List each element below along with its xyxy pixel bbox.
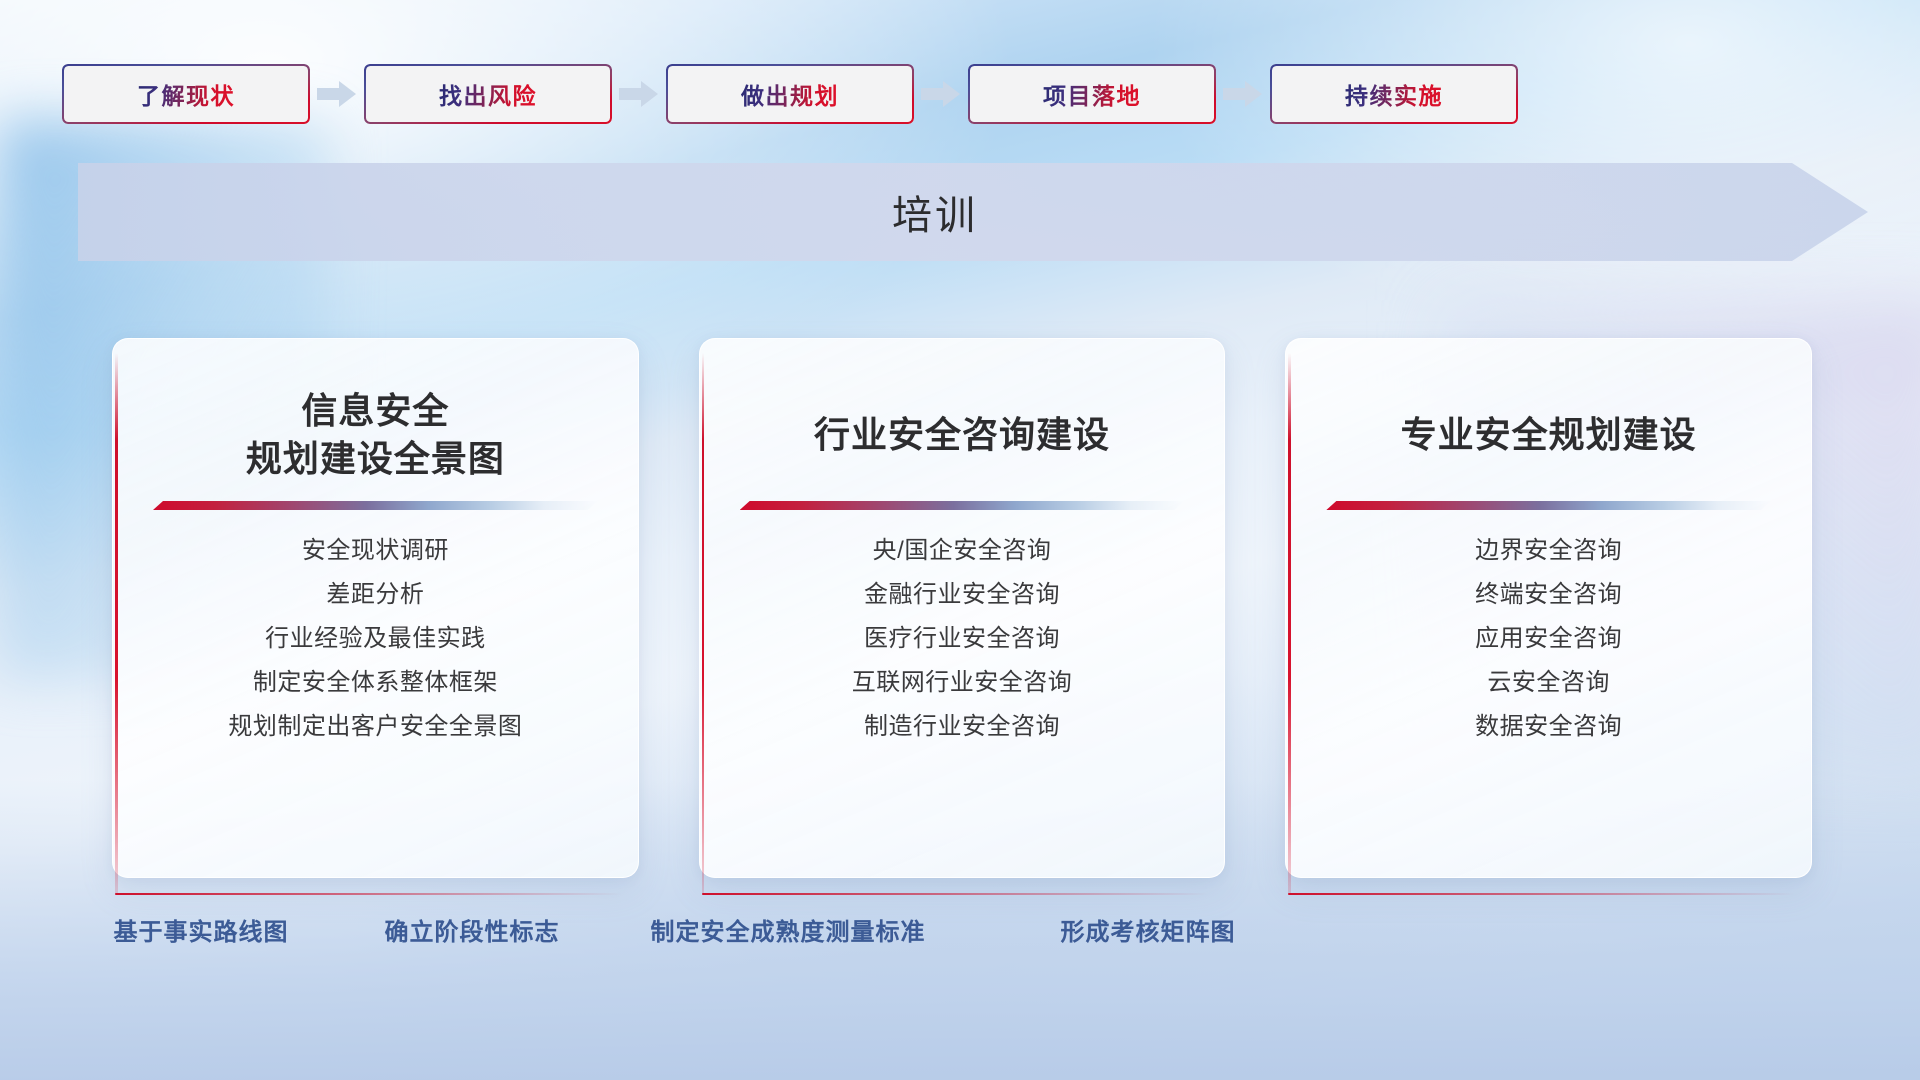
card-title: 专业安全规划建设	[1312, 387, 1785, 483]
training-banner: 培训	[78, 163, 1868, 261]
process-step-flow: 了解现状找出风险做出规划项目落地持续实施	[62, 64, 1862, 124]
card-title-line: 信息安全	[246, 387, 505, 435]
step-box-4[interactable]: 项目落地	[968, 64, 1216, 124]
card-divider	[1326, 501, 1771, 513]
footer-label-3: 制定安全成熟度测量标准	[651, 912, 926, 947]
list-item[interactable]: 制定安全体系整体框架	[139, 661, 612, 705]
info-card-2[interactable]: 行业安全咨询建设央/国企安全咨询金融行业安全咨询医疗行业安全咨询互联网行业安全咨…	[699, 338, 1226, 878]
footer-label-group: 基于事实路线图确立阶段性标志制定安全成熟度测量标准形成考核矩阵图	[0, 912, 1920, 956]
footer-label-1: 基于事实路线图	[114, 912, 289, 947]
list-item[interactable]: 规划制定出客户安全全景图	[139, 705, 612, 749]
card-divider	[740, 501, 1185, 513]
arrow-right-icon	[1216, 77, 1270, 111]
card-accent-bar	[1288, 353, 1291, 895]
list-item[interactable]: 差距分析	[139, 573, 612, 617]
list-item[interactable]: 行业经验及最佳实践	[139, 617, 612, 661]
list-item[interactable]: 终端安全咨询	[1312, 573, 1785, 617]
banner-title: 培训	[78, 163, 1792, 261]
arrow-right-icon	[310, 77, 364, 111]
card-group: 信息安全规划建设全景图安全现状调研差距分析行业经验及最佳实践制定安全体系整体框架…	[112, 338, 1812, 878]
card-accent-underline	[115, 893, 622, 896]
step-label: 持续实施	[1345, 77, 1443, 111]
step-box-2[interactable]: 找出风险	[364, 64, 612, 124]
list-item[interactable]: 医疗行业安全咨询	[726, 617, 1199, 661]
card-title-line: 行业安全咨询建设	[814, 411, 1110, 459]
step-box-1[interactable]: 了解现状	[62, 64, 310, 124]
card-item-list: 央/国企安全咨询金融行业安全咨询医疗行业安全咨询互联网行业安全咨询制造行业安全咨…	[726, 529, 1199, 749]
list-item[interactable]: 互联网行业安全咨询	[726, 661, 1199, 705]
info-card-3[interactable]: 专业安全规划建设边界安全咨询终端安全咨询应用安全咨询云安全咨询数据安全咨询	[1285, 338, 1812, 878]
card-item-list: 安全现状调研差距分析行业经验及最佳实践制定安全体系整体框架规划制定出客户安全全景…	[139, 529, 612, 749]
footer-label-4: 形成考核矩阵图	[1061, 912, 1236, 947]
card-accent-bar	[115, 353, 118, 895]
list-item[interactable]: 数据安全咨询	[1312, 705, 1785, 749]
arrow-right-icon	[612, 77, 666, 111]
list-item[interactable]: 安全现状调研	[139, 529, 612, 573]
list-item[interactable]: 边界安全咨询	[1312, 529, 1785, 573]
card-item-list: 边界安全咨询终端安全咨询应用安全咨询云安全咨询数据安全咨询	[1312, 529, 1785, 749]
card-divider-bar	[1326, 501, 1771, 510]
card-divider	[153, 501, 598, 513]
list-item[interactable]: 应用安全咨询	[1312, 617, 1785, 661]
footer-label-2: 确立阶段性标志	[385, 912, 560, 947]
step-label: 做出规划	[741, 77, 839, 111]
arrow-right-icon	[914, 77, 968, 111]
step-box-5[interactable]: 持续实施	[1270, 64, 1518, 124]
info-card-1[interactable]: 信息安全规划建设全景图安全现状调研差距分析行业经验及最佳实践制定安全体系整体框架…	[112, 338, 639, 878]
list-item[interactable]: 制造行业安全咨询	[726, 705, 1199, 749]
card-divider-bar	[740, 501, 1185, 510]
card-accent-bar	[702, 353, 705, 895]
list-item[interactable]: 央/国企安全咨询	[726, 529, 1199, 573]
card-title-line: 规划建设全景图	[246, 435, 505, 483]
card-title-line: 专业安全规划建设	[1401, 411, 1697, 459]
card-title: 行业安全咨询建设	[726, 387, 1199, 483]
step-label: 了解现状	[137, 77, 235, 111]
card-divider-bar	[153, 501, 598, 510]
list-item[interactable]: 云安全咨询	[1312, 661, 1785, 705]
card-title: 信息安全规划建设全景图	[139, 387, 612, 483]
card-accent-underline	[1288, 893, 1795, 896]
list-item[interactable]: 金融行业安全咨询	[726, 573, 1199, 617]
step-box-3[interactable]: 做出规划	[666, 64, 914, 124]
card-accent-underline	[702, 893, 1209, 896]
step-label: 项目落地	[1043, 77, 1141, 111]
step-label: 找出风险	[439, 77, 537, 111]
